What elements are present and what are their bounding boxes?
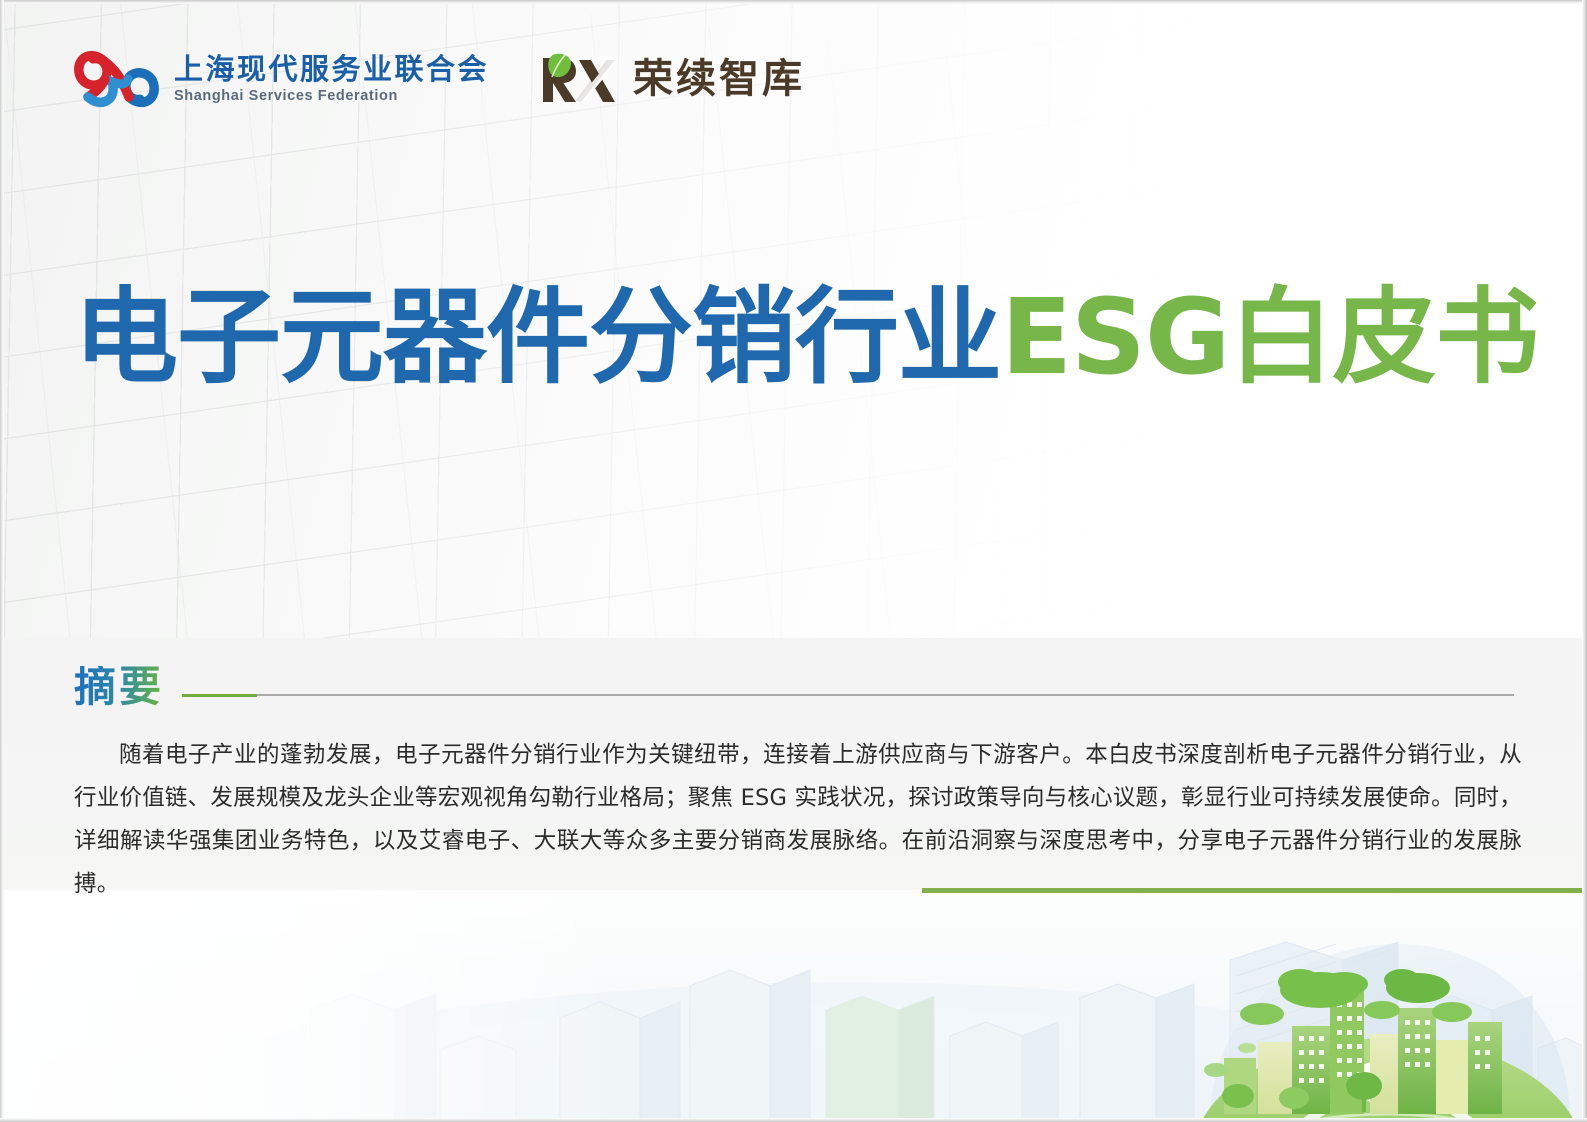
abstract-heading-row: 摘要 [74,666,1514,708]
cover-page: 上海现代服务业联合会 Shanghai Services Federation … [0,0,1587,1122]
abstract-accent-underline [922,888,1587,893]
page-title-blue-part: 电子元器件分销行业 [74,276,1001,398]
shanghai-services-federation-logo-icon [74,48,160,110]
federation-logo[interactable]: 上海现代服务业联合会 Shanghai Services Federation [74,48,489,110]
abstract-body-text: 随着电子产业的蓬勃发展，电子元器件分销行业作为关键纽带，连接着上游供应商与下游客… [74,734,1522,906]
page-edge-bottom [0,1118,1587,1122]
federation-logo-text: 上海现代服务业联合会 Shanghai Services Federation [174,53,489,106]
thinktank-name-cn: 荣续智库 [633,59,805,99]
abstract-section: 摘要 随着电子产业的蓬勃发展，电子元器件分销行业作为关键纽带，连接着上游供应商与… [0,638,1587,890]
page-edge-right [1582,0,1587,1122]
bottom-illustration [0,890,1587,1122]
abstract-rule-grey [257,694,1514,696]
abstract-rule-green [182,694,257,698]
federation-name-cn: 上海现代服务业联合会 [174,53,489,85]
eco-city-artwork-icon [0,890,1587,1122]
federation-name-en: Shanghai Services Federation [174,87,489,105]
rx-leaf-logo-icon [535,50,617,108]
abstract-heading: 摘要 [74,666,182,708]
page-edge-left [0,0,4,1122]
thinktank-logo[interactable]: 荣续智库 [535,50,805,108]
logo-bar: 上海现代服务业联合会 Shanghai Services Federation … [74,48,805,110]
page-edge-top [0,0,1587,4]
page-title: 电子元器件分销行业ESG白皮书 [74,282,1538,392]
page-title-green-part: ESG白皮书 [1001,276,1538,398]
